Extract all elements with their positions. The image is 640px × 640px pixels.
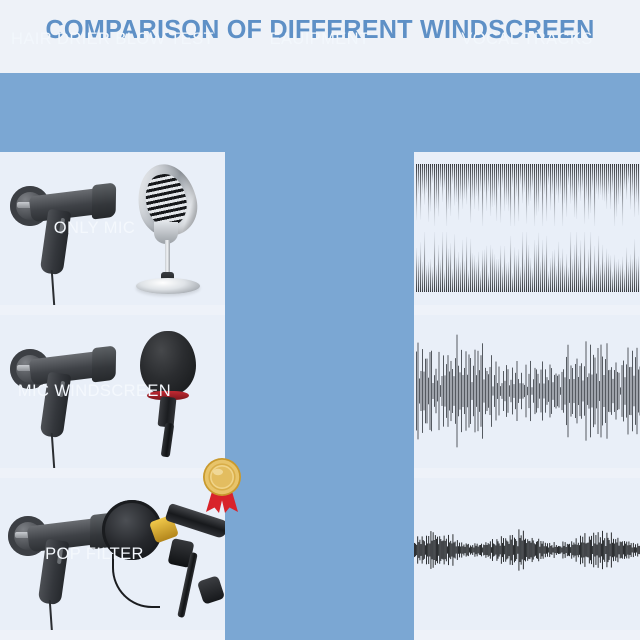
comparison-poster: COMPARISON OF DIFFERENT WINDSCREEN HAIR …: [0, 0, 640, 640]
vocal-track-panel-mic-windscreen: [414, 315, 640, 468]
column-header-vocal-tracks: VOCAL TRACKS: [414, 0, 640, 79]
row-label-pop-filter: POP FILTER: [0, 478, 189, 630]
vocal-track-panel-pop-filter: [414, 478, 640, 630]
award-rosette-icon: [199, 456, 245, 514]
column-header-hair-drier-blow-test: HAIR DRIER BLOW TEST: [0, 0, 225, 79]
waveform-mic-windscreen: [414, 315, 640, 468]
vocal-track-panel-only-mic: [414, 152, 640, 305]
column-header-equipment: EAUIPMENT: [225, 0, 414, 79]
waveform-pop-filter: [414, 478, 640, 630]
row-label-mic-windscreen: MIC WINDSCREEN: [0, 315, 189, 468]
equipment-column-spine: [225, 73, 414, 640]
row-label-only-mic: ONLY MIC: [0, 152, 189, 305]
waveform-only-mic: [414, 152, 640, 305]
